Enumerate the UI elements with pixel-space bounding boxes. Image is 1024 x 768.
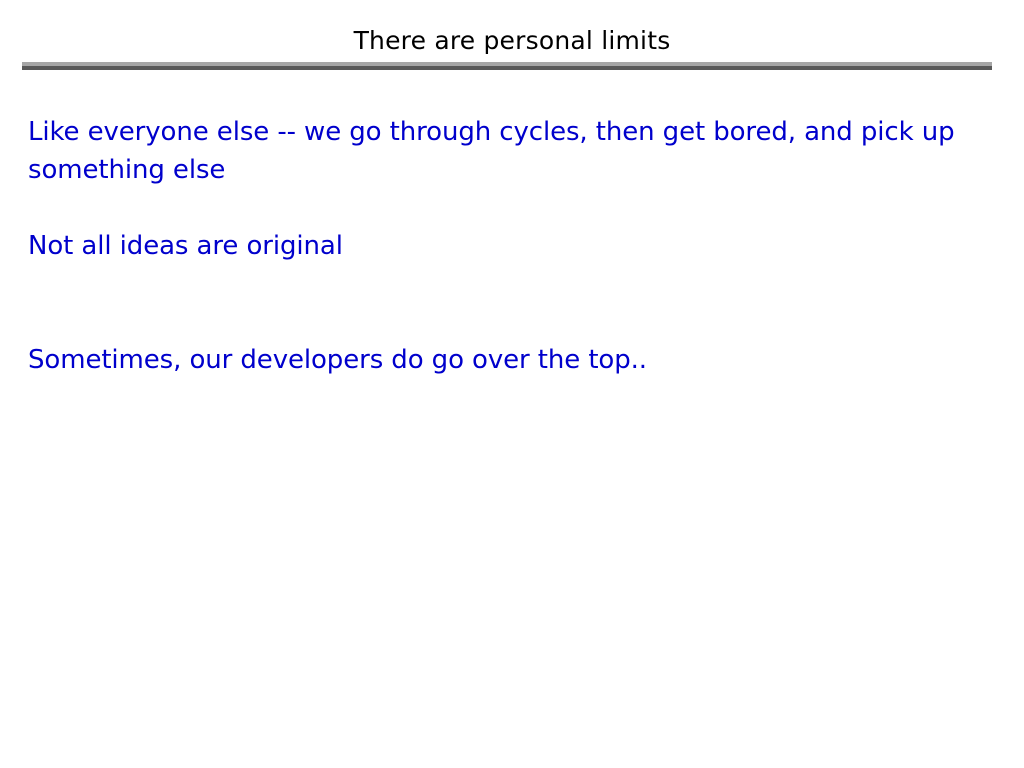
divider-dark-band (22, 66, 992, 70)
page-title: There are personal limits (0, 26, 1024, 56)
body-paragraph-3: Sometimes, our developers do go over the… (28, 341, 976, 379)
paragraph-spacer-2 (28, 265, 976, 341)
body-paragraph-2: Not all ideas are original (28, 227, 976, 265)
title-divider (22, 62, 992, 70)
slide-canvas: There are personal limits Like everyone … (0, 0, 1024, 768)
body-text-block: Like everyone else -- we go through cycl… (28, 113, 976, 379)
paragraph-spacer-1 (28, 189, 976, 227)
body-paragraph-1: Like everyone else -- we go through cycl… (28, 113, 976, 189)
